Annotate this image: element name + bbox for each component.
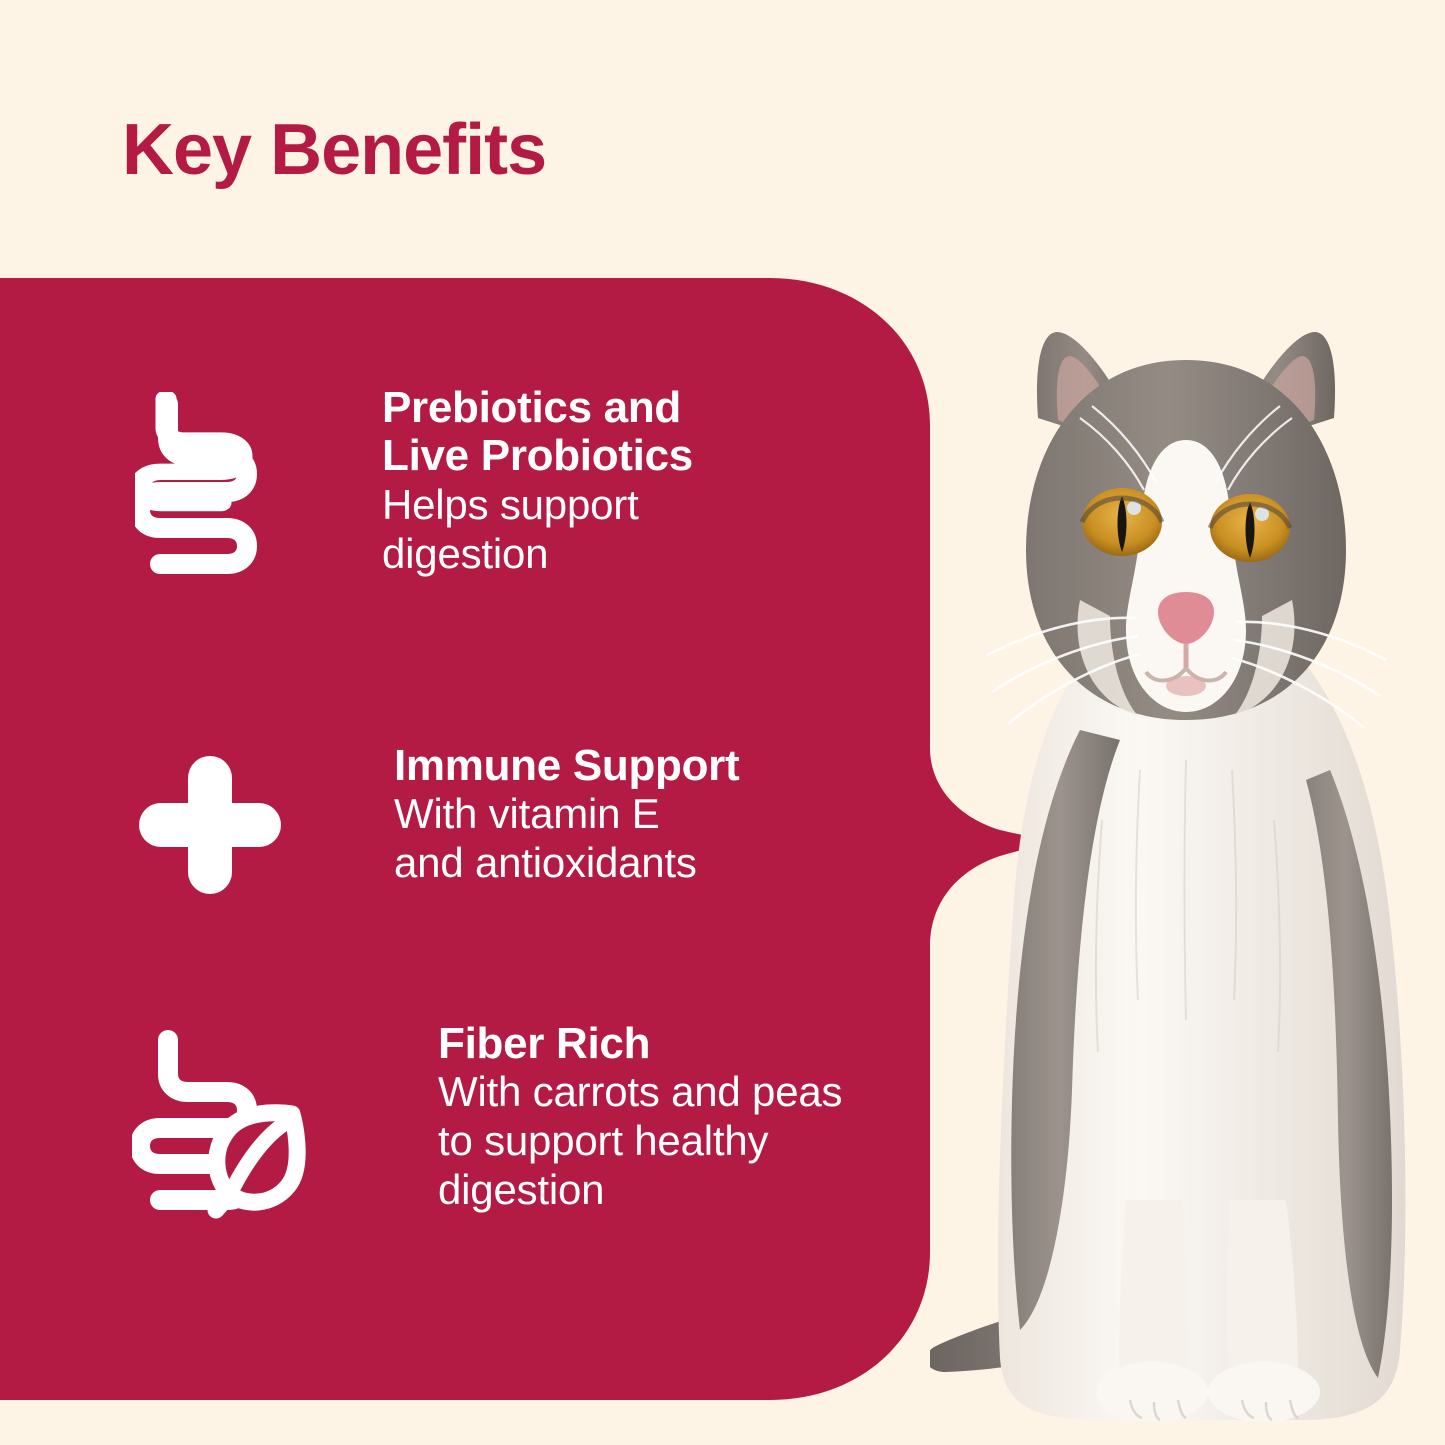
benefit-item-fiber-rich: Fiber Rich With carrots and peas to supp…: [132, 1028, 842, 1224]
benefit-title: Fiber Rich: [438, 1020, 842, 1068]
benefit-item-prebiotics: Prebiotics and Live Probiotics Helps sup…: [135, 392, 693, 588]
benefit-description: Helps support digestion: [382, 481, 693, 578]
product-benefits-graphic: Key Benefits Prebiotics and Live Probiot…: [0, 0, 1445, 1445]
benefit-text-fiber-rich: Fiber Rich With carrots and peas to supp…: [438, 1020, 842, 1215]
page-title: Key Benefits: [122, 114, 546, 186]
intestine-icon: [135, 392, 257, 588]
plus-icon: [135, 752, 285, 898]
benefit-description: With carrots and peas to support healthy…: [438, 1068, 842, 1214]
benefit-title: Prebiotics and Live Probiotics: [382, 384, 693, 481]
benefit-text-prebiotics: Prebiotics and Live Probiotics Helps sup…: [382, 384, 693, 578]
benefit-item-immune-support: Immune Support With vitamin E and antiox…: [135, 752, 739, 898]
intestine-leaf-icon: [132, 1028, 310, 1224]
cat-photo: [930, 300, 1445, 1445]
benefit-text-immune-support: Immune Support With vitamin E and antiox…: [394, 742, 739, 888]
benefit-title: Immune Support: [394, 742, 739, 790]
benefit-description: With vitamin E and antioxidants: [394, 790, 739, 887]
